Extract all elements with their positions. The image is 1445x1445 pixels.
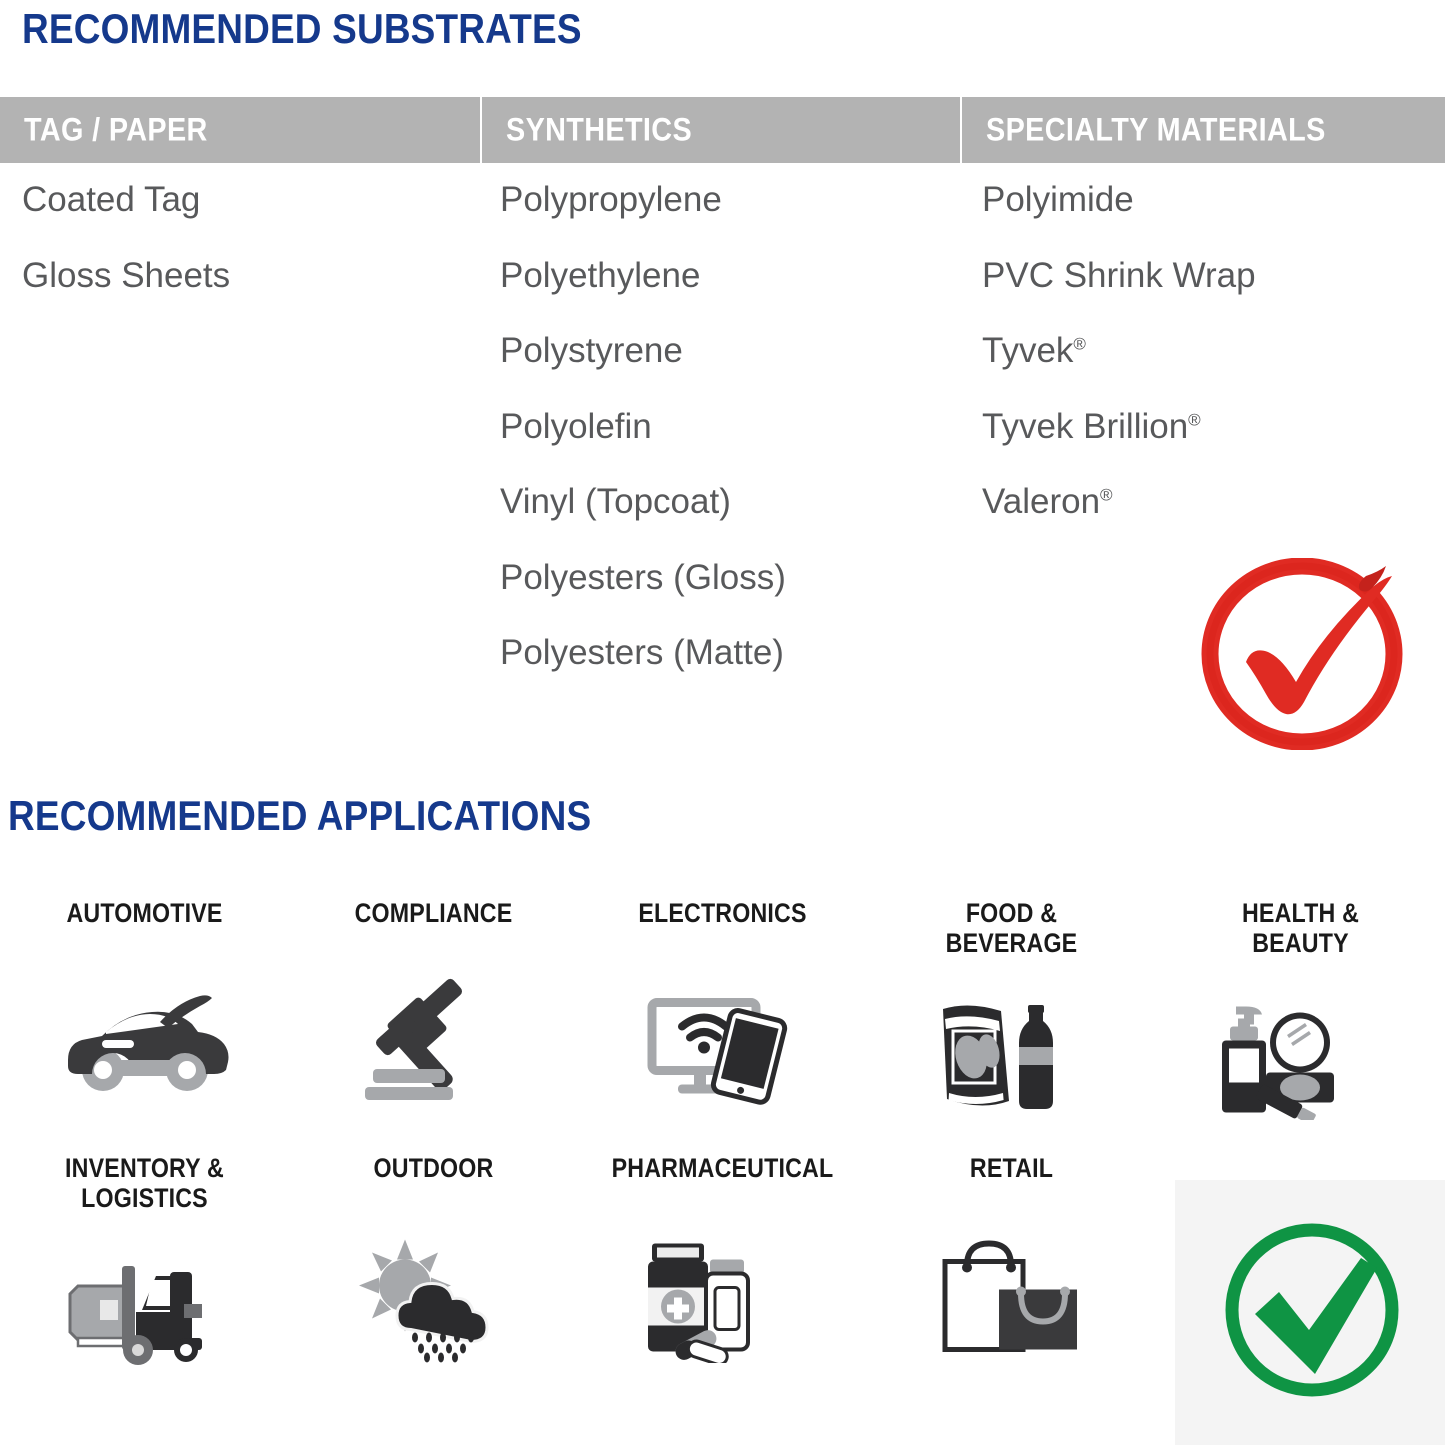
application-cell-electronics[interactable]: ELECTRONICS <box>578 880 867 1135</box>
substrates-applications-infographic: RECOMMENDED SUBSTRATES TAG / PAPER SYNTH… <box>0 0 1445 1445</box>
substrate-item: Gloss Sheets <box>22 258 472 334</box>
green-check-panel <box>1175 1180 1445 1445</box>
gavel-icon <box>349 978 519 1108</box>
red-check-circle-icon <box>1196 558 1418 750</box>
application-label: FOOD & BEVERAGE <box>867 898 1156 958</box>
application-label: HEALTH & BEAUTY <box>1156 898 1445 958</box>
substrate-item: Polyimide <box>982 182 1432 258</box>
application-label: OUTDOOR <box>289 1153 578 1183</box>
cosmetics-icon <box>1216 990 1386 1120</box>
forklift-icon <box>60 1245 230 1375</box>
application-cell-food-beverage[interactable]: FOOD & BEVERAGE <box>867 880 1156 1135</box>
column-header-specialty-materials: SPECIALTY MATERIALS <box>962 97 1445 163</box>
substrate-list-synthetics: Polypropylene Polyethylene Polystyrene P… <box>500 182 950 711</box>
substrate-list-specialty-materials: Polyimide PVC Shrink Wrap Tyvek® Tyvek B… <box>982 182 1432 560</box>
substrate-item: Polystyrene <box>500 333 950 409</box>
application-cell-outdoor[interactable]: OUTDOOR <box>289 1135 578 1400</box>
substrate-item: PVC Shrink Wrap <box>982 258 1432 334</box>
column-header-label: SYNTHETICS <box>506 112 692 149</box>
substrate-item: Tyvek® <box>982 333 1432 409</box>
application-cell-health-beauty[interactable]: HEALTH & BEAUTY <box>1156 880 1445 1135</box>
application-label: ELECTRONICS <box>578 898 867 928</box>
column-header-label: SPECIALTY MATERIALS <box>986 112 1326 149</box>
substrate-list-tag-paper: Coated Tag Gloss Sheets <box>22 182 472 333</box>
shopping-bags-icon <box>927 1233 1097 1363</box>
substrates-section-title: RECOMMENDED SUBSTRATES <box>22 8 582 50</box>
application-label: RETAIL <box>867 1153 1156 1183</box>
application-label: AUTOMOTIVE <box>0 898 289 928</box>
substrate-item: Polypropylene <box>500 182 950 258</box>
application-label: PHARMACEUTICAL <box>578 1153 867 1183</box>
substrate-item: Polyesters (Matte) <box>500 635 950 711</box>
applications-section-title: RECOMMENDED APPLICATIONS <box>8 795 591 837</box>
column-header-synthetics: SYNTHETICS <box>482 97 960 163</box>
substrate-item: Valeron® <box>982 484 1432 560</box>
registered-mark: ® <box>1073 334 1086 353</box>
application-cell-pharmaceutical[interactable]: PHARMACEUTICAL <box>578 1135 867 1400</box>
application-cell-compliance[interactable]: COMPLIANCE <box>289 880 578 1135</box>
snack-bag-bottle-icon <box>927 990 1097 1120</box>
substrate-item: Tyvek Brillion® <box>982 409 1432 485</box>
column-header-label: TAG / PAPER <box>24 112 208 149</box>
green-check-circle-icon <box>1217 1210 1407 1410</box>
column-header-tag-paper: TAG / PAPER <box>0 97 480 163</box>
application-cell-retail[interactable]: RETAIL <box>867 1135 1156 1400</box>
registered-mark: ® <box>1100 485 1113 504</box>
registered-mark: ® <box>1188 410 1201 429</box>
substrate-item: Polyolefin <box>500 409 950 485</box>
substrate-item: Polyesters (Gloss) <box>500 560 950 636</box>
substrate-item: Coated Tag <box>22 182 472 258</box>
application-cell-inventory-logistics[interactable]: INVENTORY & LOGISTICS <box>0 1135 289 1400</box>
substrate-item: Polyethylene <box>500 258 950 334</box>
application-cell-automotive[interactable]: AUTOMOTIVE <box>0 880 289 1135</box>
pill-bottles-icon <box>638 1233 808 1363</box>
application-label: COMPLIANCE <box>289 898 578 928</box>
sun-cloud-rain-icon <box>349 1233 519 1363</box>
car-icon <box>60 978 230 1108</box>
substrate-item: Vinyl (Topcoat) <box>500 484 950 560</box>
application-label: INVENTORY & LOGISTICS <box>0 1153 289 1213</box>
monitor-tablet-wifi-icon <box>638 978 808 1108</box>
